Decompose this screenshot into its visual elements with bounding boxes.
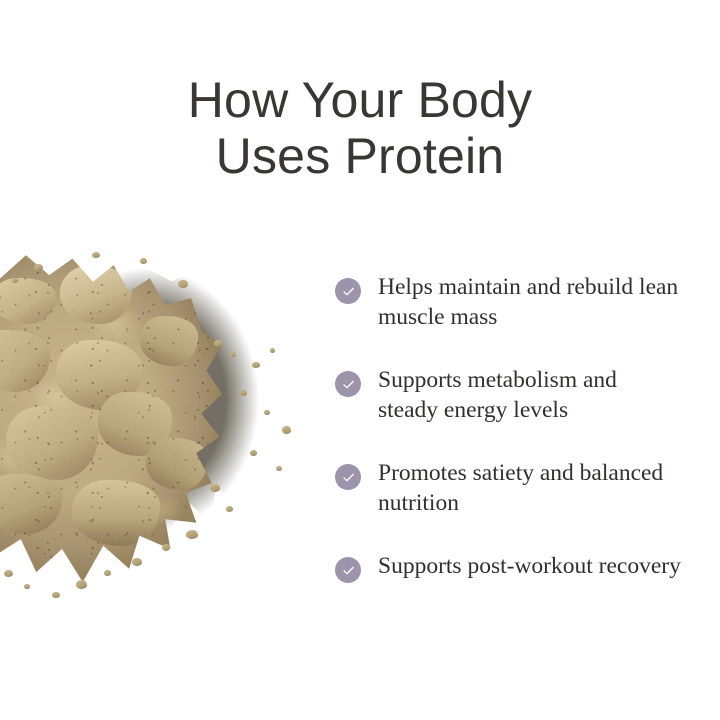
powder-crumb [226, 506, 233, 512]
powder-crumb [240, 390, 247, 396]
list-item: Promotes satiety and balanced nutrition [335, 458, 695, 518]
check-icon [335, 278, 361, 304]
powder-crumb [186, 530, 198, 539]
powder-crumb [0, 294, 1, 300]
powder-crumb [282, 426, 291, 434]
list-item: Supports post-workout recovery [335, 551, 695, 583]
powder-crumb [4, 570, 13, 577]
powder-crumb [250, 450, 257, 456]
benefit-text: Promotes satiety and balanced nutrition [378, 458, 682, 518]
page-title-line-2: Uses Protein [0, 128, 720, 184]
check-icon [335, 557, 361, 583]
page-title-line-1: How Your Body [0, 72, 720, 128]
powder-crumb [92, 252, 100, 258]
powder-crumb [162, 544, 170, 551]
powder-crumb [132, 558, 142, 566]
powder-crumb [264, 410, 270, 415]
powder-crumb [214, 340, 223, 347]
powder-crumb [12, 278, 18, 283]
check-icon [335, 464, 361, 490]
benefits-list: Helps maintain and rebuild lean muscle m… [335, 272, 695, 583]
check-icon [335, 371, 361, 397]
powder-crumb [104, 570, 111, 576]
powder-crumb [34, 264, 43, 271]
powder-crumb [52, 592, 60, 598]
benefit-text: Supports metabolism and steady energy le… [378, 365, 682, 425]
infographic-canvas: How Your Body Uses Protein [0, 0, 720, 720]
benefit-text: Helps maintain and rebuild lean muscle m… [378, 272, 682, 332]
powder-crumb [270, 348, 275, 353]
powder-crumb [252, 362, 260, 368]
powder-crumb [230, 352, 236, 357]
powder-crumb [24, 584, 30, 589]
powder-crumb [76, 580, 87, 589]
protein-powder-image [0, 244, 338, 608]
powder-crumb [210, 484, 220, 492]
list-item: Supports metabolism and steady energy le… [335, 365, 695, 425]
powder-crumb [140, 258, 147, 264]
list-item: Helps maintain and rebuild lean muscle m… [335, 272, 695, 332]
powder-crumb [276, 466, 282, 471]
powder-crumb-layer [0, 244, 338, 608]
benefit-text: Supports post-workout recovery [378, 551, 681, 581]
page-title: How Your Body Uses Protein [0, 72, 720, 184]
powder-crumb [178, 280, 188, 288]
